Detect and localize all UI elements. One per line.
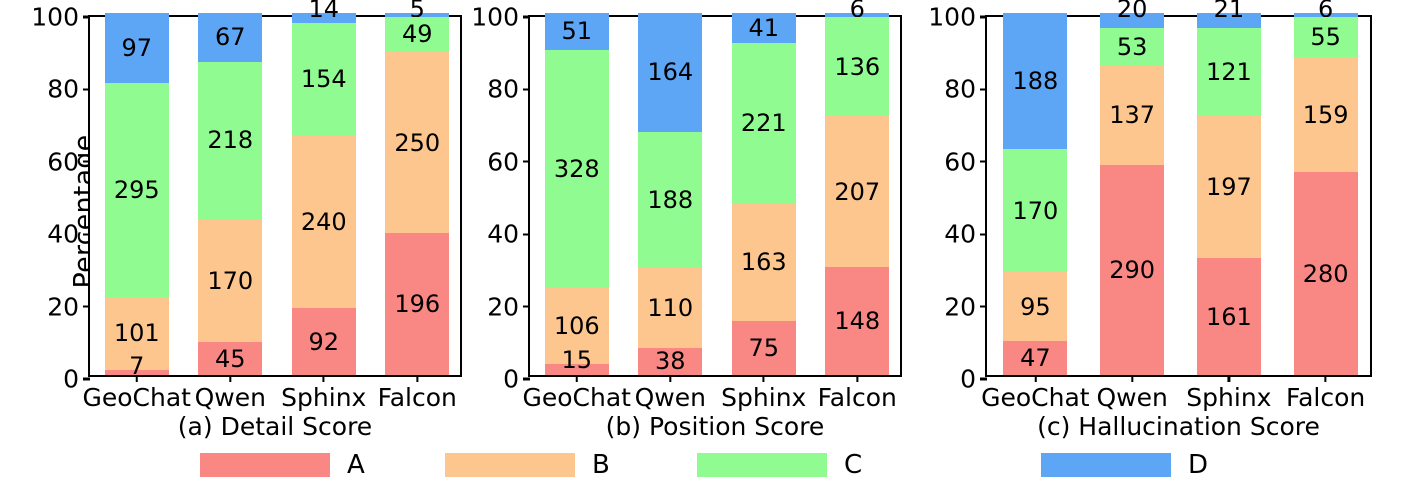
bar-value-label: 67 bbox=[215, 25, 246, 49]
bar-value-label: 75 bbox=[748, 336, 779, 360]
bar-segment-c[interactable]: 121 bbox=[1197, 28, 1261, 116]
legend-label: D bbox=[1188, 452, 1208, 478]
stacked-bar-geochat[interactable]: 5132810615 bbox=[545, 13, 609, 375]
bar-value-label: 49 bbox=[402, 22, 433, 46]
bar-segment-d[interactable]: 97 bbox=[105, 13, 169, 83]
bar-segment-b[interactable]: 197 bbox=[1197, 116, 1261, 259]
bar-segment-c[interactable]: 49 bbox=[385, 17, 449, 52]
x-axis-tick-qwen: Qwen bbox=[195, 375, 266, 410]
plot-area-a: 020406080100GeoChat972951017Qwen67218170… bbox=[88, 15, 462, 377]
bar-value-label: 45 bbox=[215, 347, 246, 371]
bar-segment-a[interactable]: 47 bbox=[1003, 341, 1067, 375]
y-axis-tick-60: 60 bbox=[487, 149, 530, 174]
bar-value-label: 159 bbox=[1303, 103, 1349, 127]
bar-value-label: 221 bbox=[741, 111, 787, 135]
bar-segment-b[interactable]: 95 bbox=[1003, 272, 1067, 341]
x-axis-tick-sphinx: Sphinx bbox=[721, 375, 806, 410]
bar-value-label: 170 bbox=[207, 269, 253, 293]
bar-segment-d[interactable]: 164 bbox=[638, 13, 702, 132]
x-axis-tick-geochat: GeoChat bbox=[83, 375, 191, 410]
bar-value-label: 51 bbox=[561, 19, 592, 43]
bar-segment-d[interactable]: 41 bbox=[732, 13, 796, 43]
x-axis-tick-falcon: Falcon bbox=[1286, 375, 1365, 410]
bar-value-label: 148 bbox=[834, 309, 880, 333]
y-axis-tick-60: 60 bbox=[944, 149, 987, 174]
y-axis-tick-40: 40 bbox=[487, 222, 530, 247]
bar-segment-d[interactable]: 20 bbox=[1100, 13, 1164, 27]
bar-segment-a[interactable]: 38 bbox=[638, 348, 702, 376]
stacked-bar-falcon[interactable]: 6136207148 bbox=[825, 13, 889, 375]
bar-value-label: 53 bbox=[1117, 35, 1148, 59]
y-axis-tick-40: 40 bbox=[944, 222, 987, 247]
subplot-title-a: (a) Detail Score bbox=[88, 414, 462, 439]
legend-swatch-icon-a bbox=[200, 453, 330, 477]
stacked-bar-sphinx[interactable]: 1415424092 bbox=[292, 13, 356, 375]
subplot-title-c: (c) Hallucination Score bbox=[985, 414, 1372, 439]
bar-segment-d[interactable]: 188 bbox=[1003, 13, 1067, 149]
bar-segment-c[interactable]: 55 bbox=[1294, 17, 1358, 57]
bar-value-label: 163 bbox=[741, 250, 787, 274]
bar-value-label: 154 bbox=[301, 67, 347, 91]
bar-segment-d[interactable]: 51 bbox=[545, 13, 609, 50]
bar-segment-c[interactable]: 53 bbox=[1100, 28, 1164, 66]
bar-value-label: 170 bbox=[1012, 199, 1058, 223]
bar-value-label: 97 bbox=[121, 36, 152, 60]
legend-entry-d[interactable]: D bbox=[1041, 452, 1208, 478]
legend-swatch-icon-c bbox=[697, 453, 827, 477]
bar-value-label: 328 bbox=[554, 157, 600, 181]
chart-legend: ABCD bbox=[0, 452, 1403, 486]
bar-value-label: 280 bbox=[1303, 262, 1349, 286]
y-axis-tick-100: 100 bbox=[471, 5, 530, 30]
bar-segment-d[interactable]: 67 bbox=[198, 13, 262, 62]
bar-segment-b[interactable]: 137 bbox=[1100, 66, 1164, 165]
legend-swatch-icon-d bbox=[1041, 453, 1171, 477]
bar-segment-d[interactable]: 14 bbox=[292, 13, 356, 23]
legend-swatch-icon-b bbox=[445, 453, 575, 477]
bar-segment-b[interactable]: 159 bbox=[1294, 57, 1358, 172]
bar-value-label: 161 bbox=[1206, 305, 1252, 329]
bar-segment-c[interactable]: 188 bbox=[638, 132, 702, 268]
bar-segment-d[interactable]: 21 bbox=[1197, 13, 1261, 28]
bar-segment-b[interactable]: 163 bbox=[732, 203, 796, 321]
y-axis-tick-100: 100 bbox=[928, 5, 987, 30]
bar-segment-a[interactable]: 7 bbox=[105, 370, 169, 375]
x-axis-tick-qwen: Qwen bbox=[1096, 375, 1167, 410]
legend-label: A bbox=[347, 452, 365, 478]
bar-segment-b[interactable]: 240 bbox=[292, 135, 356, 309]
legend-label: C bbox=[844, 452, 862, 478]
bar-segment-a[interactable]: 280 bbox=[1294, 172, 1358, 375]
bar-value-label: 188 bbox=[647, 188, 693, 212]
y-axis-tick-40: 40 bbox=[47, 222, 90, 247]
bar-value-label: 14 bbox=[308, 0, 339, 21]
bar-segment-b[interactable]: 110 bbox=[638, 268, 702, 348]
bar-value-label: 121 bbox=[1206, 60, 1252, 84]
bar-segment-b[interactable]: 250 bbox=[385, 52, 449, 233]
y-axis-tick-80: 80 bbox=[487, 77, 530, 102]
bar-value-label: 207 bbox=[834, 180, 880, 204]
y-axis-tick-80: 80 bbox=[47, 77, 90, 102]
x-axis-tick-sphinx: Sphinx bbox=[1186, 375, 1271, 410]
x-axis-tick-qwen: Qwen bbox=[635, 375, 706, 410]
bar-segment-c[interactable]: 218 bbox=[198, 62, 262, 220]
bar-value-label: 137 bbox=[1109, 103, 1155, 127]
bar-value-label: 240 bbox=[301, 210, 347, 234]
x-axis-tick-falcon: Falcon bbox=[378, 375, 457, 410]
bar-segment-b[interactable]: 106 bbox=[545, 287, 609, 364]
bar-value-label: 95 bbox=[1020, 295, 1051, 319]
stacked-bar-sphinx[interactable]: 21121197161 bbox=[1197, 13, 1261, 375]
bar-segment-a[interactable]: 75 bbox=[732, 321, 796, 375]
bar-value-label: 106 bbox=[554, 314, 600, 338]
bar-value-label: 295 bbox=[114, 178, 160, 202]
x-axis-tick-falcon: Falcon bbox=[818, 375, 897, 410]
legend-entry-a[interactable]: A bbox=[200, 452, 365, 478]
stacked-bar-qwen[interactable]: 16418811038 bbox=[638, 13, 702, 375]
stacked-bar-qwen[interactable]: 6721817045 bbox=[198, 13, 262, 375]
stacked-bar-falcon[interactable]: 549250196 bbox=[385, 13, 449, 375]
plot-area-c: 020406080100GeoChat1881709547Qwen2053137… bbox=[985, 15, 1372, 377]
bar-segment-a[interactable]: 15 bbox=[545, 364, 609, 375]
x-axis-tick-sphinx: Sphinx bbox=[281, 375, 366, 410]
stacked-bar-qwen[interactable]: 2053137290 bbox=[1100, 13, 1164, 375]
y-axis-tick-100: 100 bbox=[31, 5, 90, 30]
bar-value-label: 41 bbox=[748, 16, 779, 40]
legend-label: B bbox=[592, 452, 610, 478]
stacked-bar-geochat[interactable]: 972951017 bbox=[105, 13, 169, 375]
bar-segment-b[interactable]: 170 bbox=[198, 219, 262, 342]
y-axis-tick-20: 20 bbox=[944, 294, 987, 319]
bar-segment-c[interactable]: 170 bbox=[1003, 149, 1067, 272]
bar-segment-c[interactable]: 136 bbox=[825, 17, 889, 116]
bar-segment-c[interactable]: 295 bbox=[105, 83, 169, 297]
bar-segment-a[interactable]: 290 bbox=[1100, 165, 1164, 375]
bar-value-label: 197 bbox=[1206, 175, 1252, 199]
bar-segment-a[interactable]: 148 bbox=[825, 267, 889, 375]
bar-value-label: 38 bbox=[655, 349, 686, 373]
bar-segment-a[interactable]: 45 bbox=[198, 342, 262, 375]
bar-value-label: 136 bbox=[834, 55, 880, 79]
legend-entry-c[interactable]: C bbox=[697, 452, 862, 478]
bar-value-label: 55 bbox=[1310, 25, 1341, 49]
bar-segment-b[interactable]: 101 bbox=[105, 297, 169, 370]
bar-value-label: 290 bbox=[1109, 258, 1155, 282]
bar-segment-c[interactable]: 221 bbox=[732, 43, 796, 203]
stacked-bar-chart-figure: Percentage 020406080100GeoChat972951017Q… bbox=[0, 0, 1403, 488]
bar-value-label: 21 bbox=[1214, 0, 1245, 21]
bar-value-label: 196 bbox=[394, 292, 440, 316]
y-axis-tick-20: 20 bbox=[487, 294, 530, 319]
bar-value-label: 101 bbox=[114, 321, 160, 345]
stacked-bar-sphinx[interactable]: 4122116375 bbox=[732, 13, 796, 375]
legend-entry-b[interactable]: B bbox=[445, 452, 610, 478]
bar-segment-b[interactable]: 207 bbox=[825, 116, 889, 267]
y-axis-tick-80: 80 bbox=[944, 77, 987, 102]
bar-value-label: 47 bbox=[1020, 346, 1051, 370]
bar-segment-a[interactable]: 196 bbox=[385, 233, 449, 375]
stacked-bar-geochat[interactable]: 1881709547 bbox=[1003, 13, 1067, 375]
bar-value-label: 250 bbox=[394, 131, 440, 155]
bar-value-label: 110 bbox=[647, 296, 693, 320]
bar-segment-a[interactable]: 92 bbox=[292, 308, 356, 375]
bar-value-label: 92 bbox=[308, 330, 339, 354]
bar-value-label: 218 bbox=[207, 128, 253, 152]
stacked-bar-falcon[interactable]: 655159280 bbox=[1294, 13, 1358, 375]
bar-segment-c[interactable]: 328 bbox=[545, 50, 609, 287]
bar-value-label: 164 bbox=[647, 60, 693, 84]
subplot-title-b: (b) Position Score bbox=[528, 414, 902, 439]
x-axis-tick-geochat: GeoChat bbox=[981, 375, 1089, 410]
bar-value-label: 20 bbox=[1117, 0, 1148, 21]
plot-area-b: 020406080100GeoChat5132810615Qwen1641881… bbox=[528, 15, 902, 377]
x-axis-tick-geochat: GeoChat bbox=[523, 375, 631, 410]
bar-segment-a[interactable]: 161 bbox=[1197, 258, 1261, 375]
bar-segment-c[interactable]: 154 bbox=[292, 23, 356, 134]
y-axis-tick-20: 20 bbox=[47, 294, 90, 319]
bar-value-label: 188 bbox=[1012, 69, 1058, 93]
y-axis-tick-60: 60 bbox=[47, 149, 90, 174]
